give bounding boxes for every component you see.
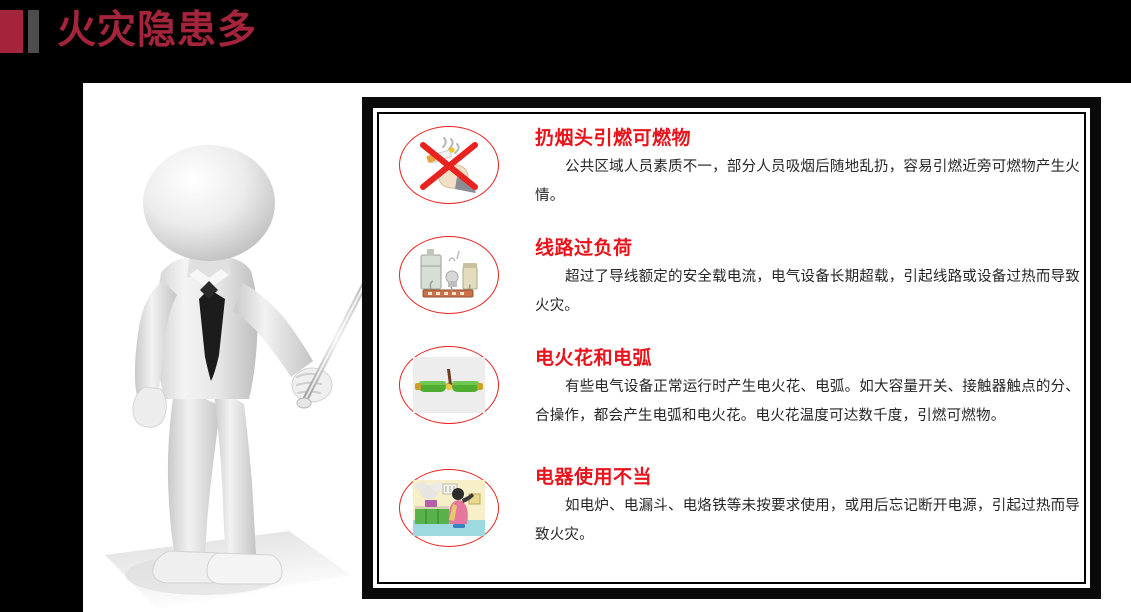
overloaded-outlet-icon: [413, 247, 485, 303]
hazard-frame-white-mat: 扔烟头引燃可燃物 公共区域人员素质不一，部分人员吸烟后随地乱扔，容易引燃近旁可燃…: [373, 108, 1090, 588]
hazard-icon-container: [399, 126, 499, 204]
sparking-cable-icon: [413, 357, 485, 413]
no-smoking-icon: [413, 137, 485, 193]
presenter-figure: [83, 123, 373, 612]
hazard-heading: 电器使用不当: [535, 465, 1080, 489]
hazard-heading: 扔烟头引燃可燃物: [535, 126, 1080, 150]
title-gray-accent-block: [28, 10, 39, 53]
hazard-text-block: 电器使用不当 如电炉、电漏斗、电烙铁等未按要求使用，或用后忘记断开电源，引起过热…: [535, 465, 1080, 550]
hazard-body: 公共区域人员素质不一，部分人员吸烟后随地乱扔，容易引燃近旁可燃物产生火情。: [535, 153, 1080, 211]
hazard-text-block: 扔烟头引燃可燃物 公共区域人员素质不一，部分人员吸烟后随地乱扔，容易引燃近旁可燃…: [535, 126, 1080, 211]
hazard-body: 有些电气设备正常运行时产生电火花、电弧。如大容量开关、接触器触点的分、合操作，都…: [535, 373, 1080, 431]
title-bar: 火灾隐患多: [0, 0, 1131, 66]
page-title: 火灾隐患多: [57, 5, 257, 57]
kitchen-appliance-misuse-icon: [413, 480, 485, 536]
hazard-icon-container: [399, 346, 499, 424]
hazard-icon-container: [399, 469, 499, 547]
hazard-heading: 电火花和电弧: [535, 346, 1080, 370]
hazard-body: 超过了导线额定的安全载电流，电气设备长期超载，引起线路或设备过热而导致火灾。: [535, 263, 1080, 321]
content-panel: 扔烟头引燃可燃物 公共区域人员素质不一，部分人员吸烟后随地乱扔，容易引燃近旁可燃…: [83, 83, 1131, 612]
hazard-icon-container: [399, 236, 499, 314]
hazard-text-block: 电火花和电弧 有些电气设备正常运行时产生电火花、电弧。如大容量开关、接触器触点的…: [535, 346, 1080, 431]
hazard-body: 如电炉、电漏斗、电烙铁等未按要求使用，或用后忘记断开电源，引起过热而导致火灾。: [535, 492, 1080, 550]
hazard-heading: 线路过负荷: [535, 236, 1080, 260]
hazard-frame: 扔烟头引燃可燃物 公共区域人员素质不一，部分人员吸烟后随地乱扔，容易引燃近旁可燃…: [362, 97, 1101, 599]
hazard-text-block: 线路过负荷 超过了导线额定的安全载电流，电气设备长期超载，引起线路或设备过热而导…: [535, 236, 1080, 321]
hazard-frame-inner-border: 扔烟头引燃可燃物 公共区域人员素质不一，部分人员吸烟后随地乱扔，容易引燃近旁可燃…: [377, 112, 1086, 584]
title-red-accent-block: [0, 10, 23, 53]
slide-root: 火灾隐患多: [0, 0, 1131, 612]
hazard-list: 扔烟头引燃可燃物 公共区域人员素质不一，部分人员吸烟后随地乱扔，容易引燃近旁可燃…: [387, 120, 1074, 576]
